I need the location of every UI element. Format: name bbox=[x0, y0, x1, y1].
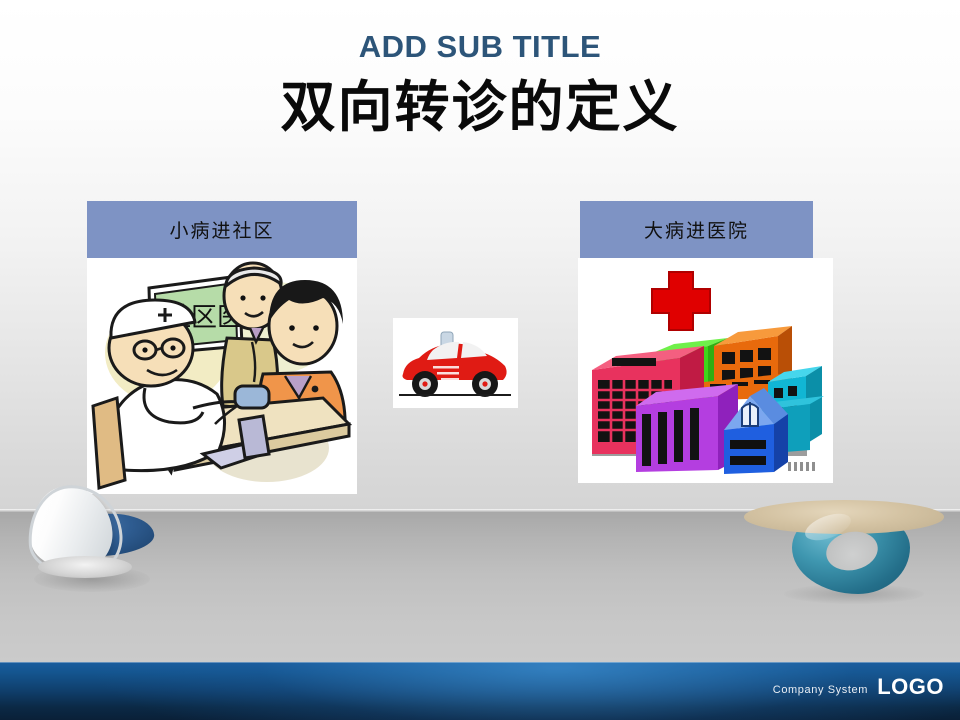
card-left-header-label: 小病进社区 bbox=[169, 216, 274, 243]
hospital-buildings-illustration bbox=[578, 258, 833, 483]
card-right-header: 大病进医院 bbox=[580, 201, 813, 258]
chair-base bbox=[38, 556, 132, 578]
card-right-image-panel bbox=[578, 258, 833, 483]
footer-bar: Company System LOGO bbox=[0, 662, 960, 720]
transfer-car-panel bbox=[393, 318, 518, 408]
office-chair-decoration bbox=[16, 486, 166, 601]
page-title: 双向转诊的定义 bbox=[0, 62, 960, 142]
slide-canvas: ADD SUB TITLE 双向转诊的定义 小病进社区 社区医 bbox=[0, 0, 960, 720]
card-left-header: 小病进社区 bbox=[87, 201, 357, 258]
footer-logo: LOGO bbox=[877, 674, 944, 700]
card-left-image-panel: 社区医 bbox=[87, 258, 357, 494]
community-doctor-illustration: 社区医 bbox=[87, 258, 357, 494]
slide-subtitle: ADD SUB TITLE bbox=[0, 29, 960, 65]
red-car-icon bbox=[393, 318, 518, 408]
footer-top-divider bbox=[0, 662, 960, 663]
footer-company-label: Company System bbox=[773, 684, 868, 696]
sculpture-decoration bbox=[744, 492, 960, 602]
card-right-header-label: 大病进医院 bbox=[644, 216, 749, 243]
